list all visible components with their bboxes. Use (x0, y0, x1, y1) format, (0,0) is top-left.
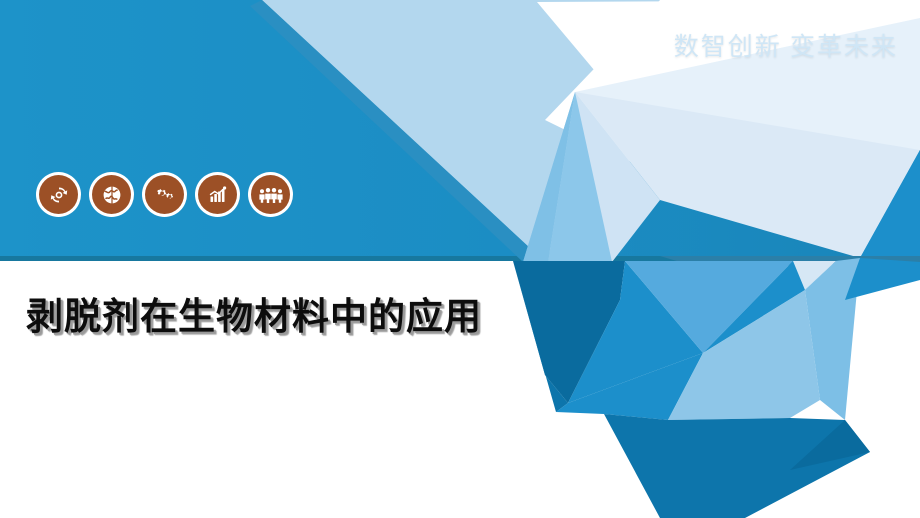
icon-badge-globe[interactable] (89, 172, 134, 217)
gears-icon (152, 182, 178, 208)
icon-badge-bar-chart[interactable] (195, 172, 240, 217)
people-group-icon (257, 183, 285, 207)
refresh-arrows-icon (47, 183, 71, 207)
icon-disc (39, 175, 78, 214)
page-title: 剥脱剂在生物材料中的应用 (26, 296, 482, 339)
title-block: 剥脱剂在生物材料中的应用 (26, 296, 482, 339)
tagline: 数智创新 变革未来 (674, 27, 898, 63)
icon-badge-people-group[interactable] (248, 172, 293, 217)
icon-disc (198, 175, 237, 214)
icon-disc (92, 175, 131, 214)
icon-disc (145, 175, 184, 214)
icon-badge-refresh[interactable] (36, 172, 81, 217)
cover-slide: 数智创新 变革未来 (0, 0, 920, 518)
icon-badge-gears[interactable] (142, 172, 187, 217)
icon-strip (36, 172, 293, 217)
bar-chart-icon (206, 183, 230, 207)
background-artwork (0, 0, 920, 518)
icon-disc (251, 175, 290, 214)
globe-icon (100, 183, 124, 207)
